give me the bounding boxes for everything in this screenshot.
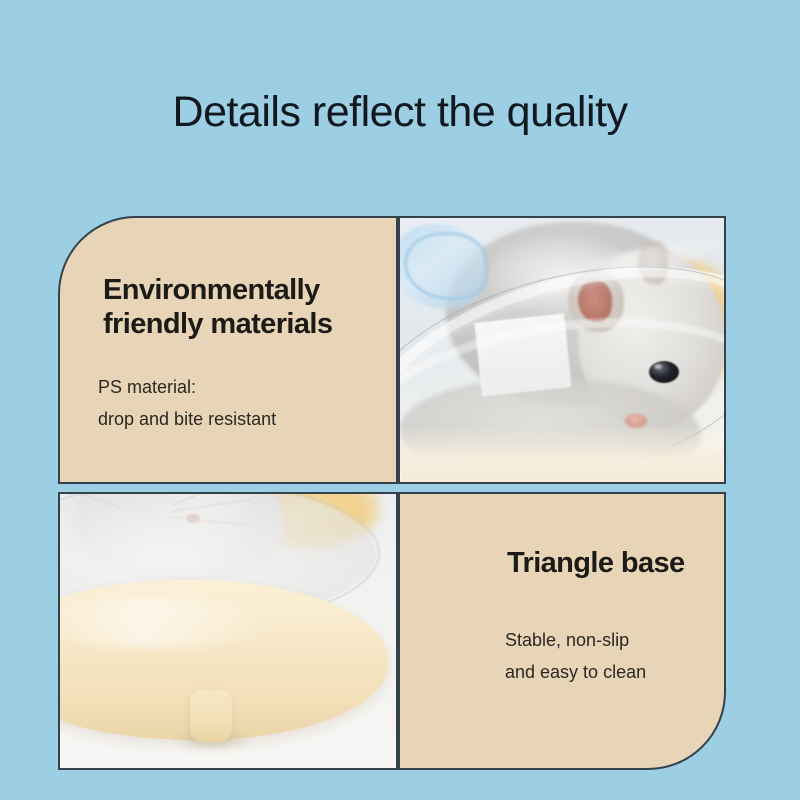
panel-triangle-base: Triangle base Stable, non-slip and easy … (398, 492, 726, 770)
panel-body-environmentally-friendly: PS material: drop and bite resistant (98, 371, 388, 435)
panel-bowl-base-photo (58, 492, 398, 770)
bowl-triangle-leg (190, 690, 232, 742)
hamster-eye-glint (654, 364, 662, 369)
panel-body-triangle-base: Stable, non-slip and easy to clean (505, 624, 725, 688)
hamster-in-clear-dish-photo (400, 218, 724, 482)
panel-hamster-dish-photo (398, 216, 726, 484)
product-detail-graphic: Details reflect the quality Environmenta… (0, 0, 800, 800)
panel-heading-triangle-base: Triangle base (507, 546, 726, 580)
feature-panel-grid: Environmentally friendly materials PS ma… (58, 216, 726, 770)
panel-heading-environmentally-friendly: Environmentally friendly materials (103, 273, 393, 341)
page-title: Details reflect the quality (0, 86, 800, 138)
photo-foreground-surface (400, 426, 724, 484)
bowl-base-with-leg-photo (60, 494, 396, 768)
panel-environmentally-friendly: Environmentally friendly materials PS ma… (58, 216, 398, 484)
